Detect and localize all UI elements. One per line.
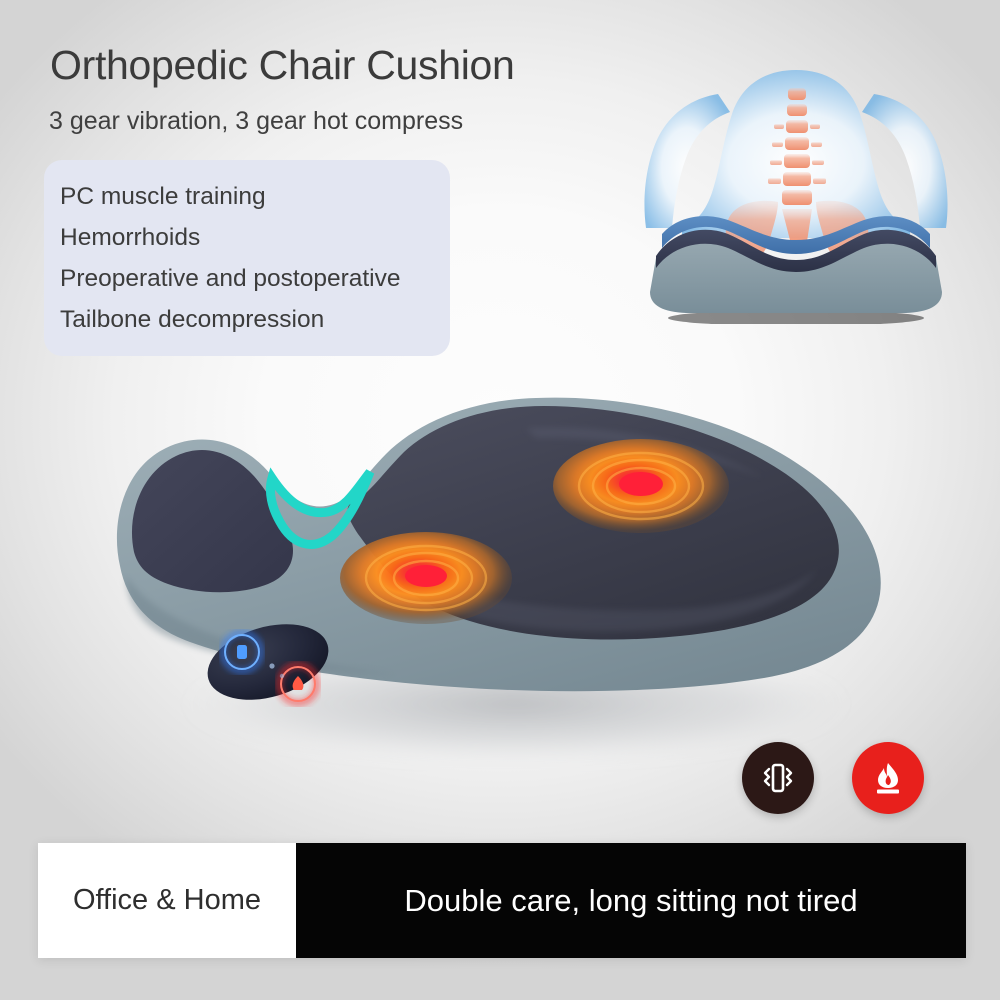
banner-right-label: Double care, long sitting not tired	[404, 883, 857, 919]
vibration-icon	[758, 758, 798, 798]
benefit-item: PC muscle training	[44, 176, 450, 217]
heat-badge[interactable]	[852, 742, 924, 814]
feature-badges	[742, 742, 942, 822]
banner-right-panel: Double care, long sitting not tired	[296, 843, 966, 958]
bottom-banner: Office & Home Double care, long sitting …	[38, 843, 966, 958]
heat-zone-rear	[553, 439, 729, 533]
flame-icon	[868, 758, 908, 798]
product-poster: Orthopedic Chair Cushion 3 gear vibratio…	[0, 0, 1000, 1000]
benefit-list: PC muscle training Hemorrhoids Preoperat…	[44, 160, 450, 356]
anatomy-illustration	[598, 62, 994, 324]
banner-left-label: Office & Home	[73, 884, 261, 917]
benefit-item: Hemorrhoids	[44, 217, 450, 258]
product-subtitle: 3 gear vibration, 3 gear hot compress	[49, 107, 463, 136]
banner-left-panel: Office & Home	[38, 843, 296, 958]
vibration-badge[interactable]	[742, 742, 814, 814]
benefit-item: Preoperative and postoperative	[44, 258, 450, 299]
cushion-product-image	[96, 336, 906, 766]
benefit-item: Tailbone decompression	[44, 299, 450, 340]
heat-zone-front	[340, 532, 512, 624]
page-title: Orthopedic Chair Cushion	[50, 44, 515, 87]
